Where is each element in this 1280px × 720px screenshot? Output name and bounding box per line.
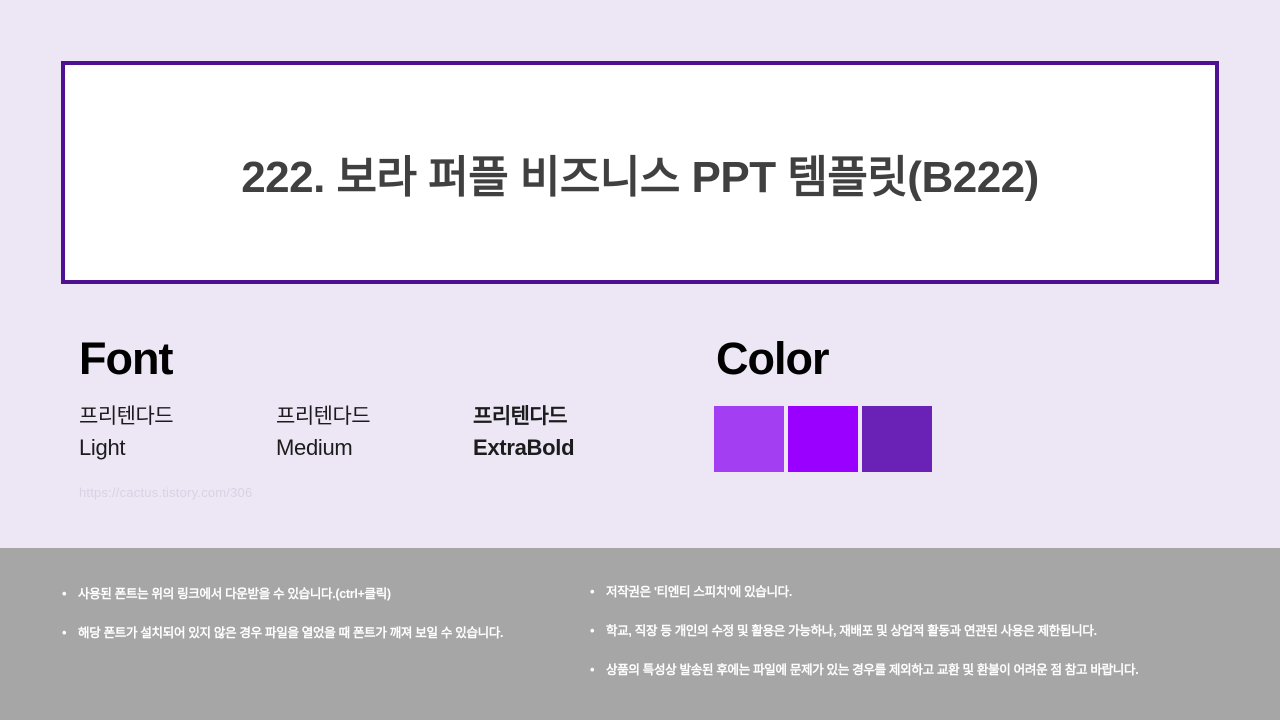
footer-notes-right: • 저작권은 '티엔티 스피치'에 있습니다. • 학교, 직장 등 개인의 수…: [590, 548, 1250, 701]
footer-notes-left: • 사용된 폰트는 위의 링크에서 다운받을 수 있습니다.(ctrl+클릭) …: [62, 548, 582, 664]
color-swatch-purple-dark[interactable]: [862, 406, 932, 472]
font-specimen-list: 프리텐다드 Light 프리텐다드 Medium 프리텐다드 ExtraBold: [79, 402, 699, 464]
font-specimen-weight-light: Light: [79, 432, 276, 464]
list-item: • 저작권은 '티엔티 스피치'에 있습니다.: [590, 584, 1250, 601]
bullet-icon: •: [590, 584, 606, 601]
font-specimen-korean-extrabold: 프리텐다드: [473, 402, 670, 432]
font-section-heading: Font: [79, 336, 172, 381]
note-text: 사용된 폰트는 위의 링크에서 다운받을 수 있습니다.(ctrl+클릭): [78, 586, 391, 602]
footer-notes-bar: • 사용된 폰트는 위의 링크에서 다운받을 수 있습니다.(ctrl+클릭) …: [0, 548, 1280, 720]
bullet-icon: •: [62, 586, 78, 603]
note-text: 학교, 직장 등 개인의 수정 및 활용은 가능하나, 재배포 및 상업적 활동…: [606, 623, 1097, 639]
font-specimen-weight-medium: Medium: [276, 432, 473, 464]
font-download-link[interactable]: https://cactus.tistory.com/306: [79, 485, 252, 500]
list-item: • 상품의 특성상 발송된 후에는 파일에 문제가 있는 경우를 제외하고 교환…: [590, 662, 1250, 679]
font-specimen-medium: 프리텐다드 Medium: [276, 402, 473, 464]
bullet-icon: •: [62, 625, 78, 642]
color-swatch-list: [714, 406, 932, 472]
bullet-icon: •: [590, 623, 606, 640]
list-item: • 해당 폰트가 설치되어 있지 않은 경우 파일을 열었을 때 폰트가 깨져 …: [62, 625, 582, 642]
page-title: 222. 보라 퍼플 비즈니스 PPT 템플릿(B222): [241, 141, 1039, 205]
title-box: 222. 보라 퍼플 비즈니스 PPT 템플릿(B222): [61, 61, 1219, 284]
color-swatch-purple-light[interactable]: [714, 406, 784, 472]
font-specimen-korean-light: 프리텐다드: [79, 402, 276, 432]
font-specimen-weight-extrabold: ExtraBold: [473, 432, 670, 464]
note-text: 저작권은 '티엔티 스피치'에 있습니다.: [606, 584, 792, 600]
note-text: 상품의 특성상 발송된 후에는 파일에 문제가 있는 경우를 제외하고 교환 및…: [606, 662, 1138, 678]
font-specimen-light: 프리텐다드 Light: [79, 402, 276, 464]
color-section-heading: Color: [716, 336, 829, 381]
bullet-icon: •: [590, 662, 606, 679]
list-item: • 학교, 직장 등 개인의 수정 및 활용은 가능하나, 재배포 및 상업적 …: [590, 623, 1250, 640]
font-specimen-korean-medium: 프리텐다드: [276, 402, 473, 432]
list-item: • 사용된 폰트는 위의 링크에서 다운받을 수 있습니다.(ctrl+클릭): [62, 586, 582, 603]
color-swatch-purple-vivid[interactable]: [788, 406, 858, 472]
note-text: 해당 폰트가 설치되어 있지 않은 경우 파일을 열었을 때 폰트가 깨져 보일…: [78, 625, 503, 641]
font-specimen-extrabold: 프리텐다드 ExtraBold: [473, 402, 670, 464]
